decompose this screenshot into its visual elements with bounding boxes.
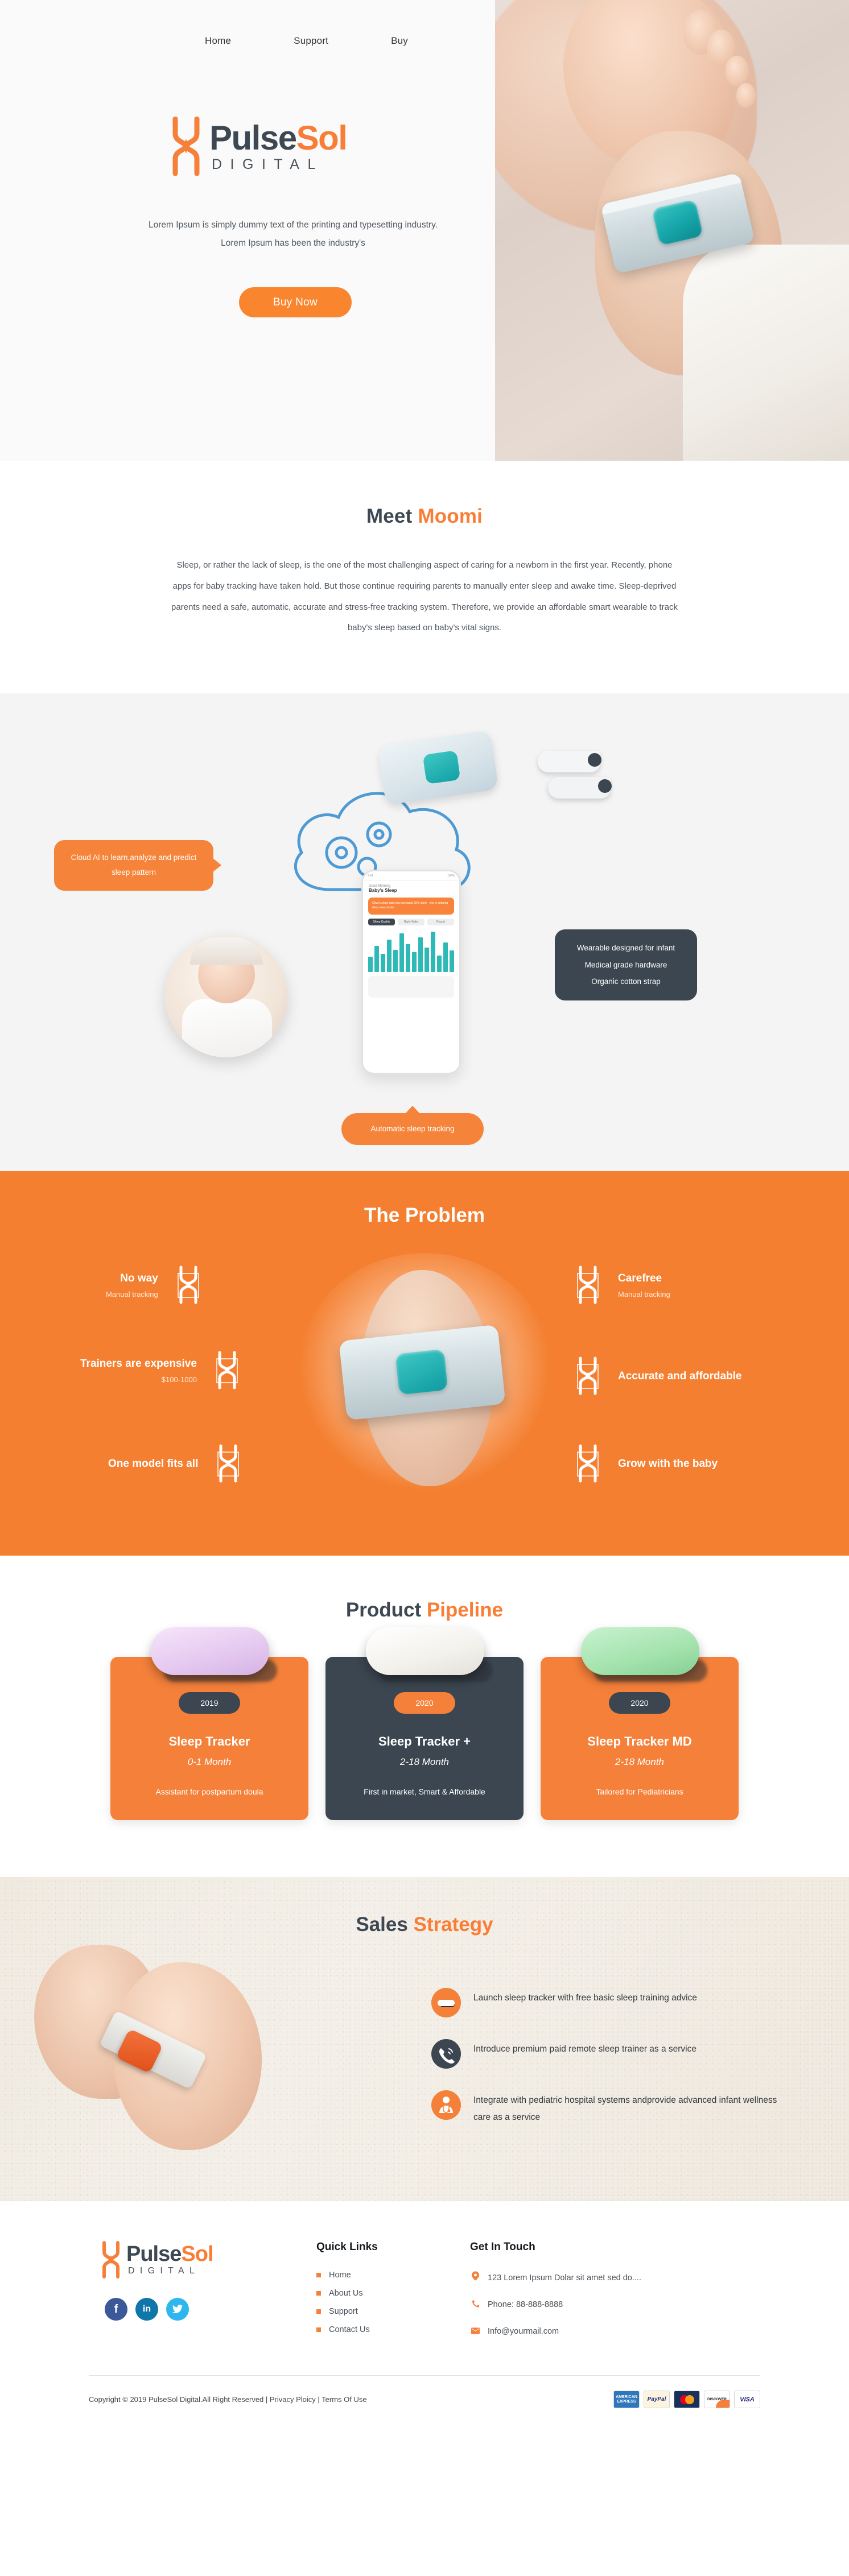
pipeline-card-note: Tailored for Pediatricians bbox=[555, 1787, 724, 1796]
envelope-icon bbox=[470, 2324, 480, 2340]
footer: PulseSol DIGITAL f in Quick Links bbox=[0, 2201, 849, 2428]
bullet-square-icon bbox=[316, 2291, 321, 2296]
device-spec-line-1: Wearable designed for infant bbox=[570, 940, 682, 957]
product-image-1 bbox=[144, 1624, 275, 1688]
product-image-3 bbox=[574, 1624, 705, 1688]
footer-contact-column: Get In Touch 123 Lorem Ipsum Dolar sit a… bbox=[470, 2241, 709, 2350]
wearable-band-illustration bbox=[376, 727, 506, 813]
quick-link-contact-us[interactable]: Contact Us bbox=[316, 2325, 470, 2334]
american-express-icon: AMERICAN EXPRESS bbox=[613, 2391, 640, 2408]
pipeline-card-note: Assistant for postpartum doula bbox=[125, 1787, 294, 1796]
pipeline-year-badge: 2020 bbox=[609, 1692, 670, 1714]
bone-icon bbox=[572, 1444, 603, 1484]
pipeline-card-2[interactable]: 2020 Sleep Tracker + 2-18 Month First in… bbox=[325, 1657, 524, 1820]
pipeline-year-badge: 2019 bbox=[179, 1692, 240, 1714]
pipeline-card-1[interactable]: 2019 Sleep Tracker 0-1 Month Assistant f… bbox=[110, 1657, 308, 1820]
location-pin-icon bbox=[470, 2271, 480, 2286]
nav-item-support[interactable]: Support bbox=[294, 35, 328, 47]
problem-item-title: One model fits all bbox=[108, 1458, 198, 1470]
logo-part-pulse: Pulse bbox=[209, 119, 296, 157]
contact-phone-text: Phone: 88-888-8888 bbox=[488, 2297, 563, 2313]
sales-title: Sales Strategy bbox=[0, 1877, 849, 1936]
pipeline-card-3[interactable]: 2020 Sleep Tracker MD 2-18 Month Tailore… bbox=[541, 1657, 739, 1820]
footer-bottom-bar: Copyright © 2019 PulseSol Digital.All Ri… bbox=[89, 2375, 760, 2428]
bone-icon bbox=[572, 1357, 603, 1396]
meet-title-orange: Moomi bbox=[418, 505, 483, 527]
automatic-tracking-callout: Automatic sleep tracking bbox=[341, 1113, 484, 1145]
problem-item-title: No way bbox=[106, 1272, 158, 1285]
phone-call-icon bbox=[431, 2039, 461, 2069]
footer-logo-subtitle: DIGITAL bbox=[126, 2266, 213, 2276]
problem-item-title: Grow with the baby bbox=[618, 1458, 718, 1470]
pipeline-card-name: Sleep Tracker MD bbox=[555, 1734, 724, 1749]
social-links: f in bbox=[101, 2298, 316, 2321]
problem-item-left-3: One model fits all bbox=[108, 1444, 244, 1484]
problem-item-sub: Manual tracking bbox=[618, 1290, 670, 1299]
device-specs-callout: Wearable designed for infant Medical gra… bbox=[555, 929, 697, 1000]
sales-strategy-list: Launch sleep tracker with free basic sle… bbox=[431, 1988, 784, 2148]
landing-page: Home Support Buy PulseSol DIGITAL bbox=[0, 0, 849, 2428]
hero-tracker-device bbox=[652, 199, 703, 246]
hero-section: Home Support Buy PulseSol DIGITAL bbox=[0, 0, 849, 461]
quick-link-home[interactable]: Home bbox=[316, 2271, 470, 2280]
sales-item-text: Integrate with pediatric hospital system… bbox=[473, 2090, 784, 2126]
quick-link-label: Support bbox=[329, 2307, 358, 2316]
sales-item-text: Introduce premium paid remote sleep trai… bbox=[473, 2039, 696, 2058]
callout-arrow-right-icon bbox=[212, 858, 221, 873]
problem-item-left-1: No way Manual tracking bbox=[106, 1266, 204, 1305]
phone-status-time: 9:41 bbox=[368, 874, 373, 878]
logo-part-sol: Sol bbox=[296, 119, 347, 157]
problem-item-right-2: Accurate and affordable bbox=[572, 1357, 742, 1396]
sales-title-dark: Sales bbox=[356, 1913, 413, 1936]
sales-item-text: Launch sleep tracker with free basic sle… bbox=[473, 1988, 697, 2007]
hero-logo[interactable]: PulseSol DIGITAL bbox=[171, 117, 415, 176]
problem-title: The Problem bbox=[0, 1204, 849, 1227]
bone-icon bbox=[213, 1444, 244, 1484]
phone-tab-night-wake[interactable]: Night Wake bbox=[398, 919, 424, 925]
pipeline-card-name: Sleep Tracker + bbox=[340, 1734, 509, 1749]
sales-item-2: Introduce premium paid remote sleep trai… bbox=[431, 2039, 784, 2069]
phone-icon bbox=[470, 2297, 480, 2313]
phone-mockup: 9:41 100% Good Morning Baby's Sleep Oliv… bbox=[361, 870, 461, 1074]
quick-link-label: Home bbox=[329, 2271, 351, 2280]
main-nav: Home Support Buy bbox=[205, 35, 408, 47]
get-in-touch-heading: Get In Touch bbox=[470, 2241, 709, 2254]
pipeline-title-dark: Product bbox=[346, 1599, 427, 1621]
sales-item-3: Integrate with pediatric hospital system… bbox=[431, 2090, 784, 2126]
cloud-ai-callout-text: Cloud AI to learn,analyze and predict sl… bbox=[71, 853, 197, 876]
facebook-icon[interactable]: f bbox=[105, 2298, 127, 2321]
bone-icon bbox=[572, 1266, 603, 1305]
meet-section: Meet Moomi Sleep, or rather the lack of … bbox=[0, 461, 849, 693]
phone-title: Baby's Sleep bbox=[369, 888, 454, 893]
buy-now-button[interactable]: Buy Now bbox=[239, 287, 352, 317]
quick-links-heading: Quick Links bbox=[316, 2241, 470, 2254]
contact-address: 123 Lorem Ipsum Dolar sit amet sed do...… bbox=[470, 2271, 709, 2286]
pipeline-card-name: Sleep Tracker bbox=[125, 1734, 294, 1749]
footer-logo[interactable]: PulseSol DIGITAL bbox=[101, 2241, 316, 2279]
discover-icon: DISCOVER bbox=[704, 2391, 730, 2408]
problem-center-photo bbox=[294, 1253, 555, 1503]
problem-item-right-3: Grow with the baby bbox=[572, 1444, 718, 1484]
problem-section: The Problem No way Manual tracking bbox=[0, 1171, 849, 1556]
paypal-icon: PayPal bbox=[644, 2391, 670, 2408]
pulsesol-bone-icon bbox=[101, 2241, 121, 2279]
quick-link-support[interactable]: Support bbox=[316, 2307, 470, 2316]
visa-icon: VISA bbox=[734, 2391, 760, 2408]
bullet-square-icon bbox=[316, 2273, 321, 2277]
phone-footer-panel bbox=[368, 976, 454, 998]
nav-item-home[interactable]: Home bbox=[205, 35, 231, 47]
copyright-text: Copyright © 2019 PulseSol Digital.All Ri… bbox=[89, 2395, 367, 2404]
automatic-tracking-callout-text: Automatic sleep tracking bbox=[370, 1124, 454, 1133]
baby-shoes-illustration bbox=[538, 747, 623, 816]
pipeline-card-months: 2-18 Month bbox=[340, 1756, 509, 1768]
pipeline-title-orange: Pipeline bbox=[427, 1599, 503, 1621]
sales-baby-foot-photo bbox=[34, 1945, 273, 2161]
problem-item-sub: $100-1000 bbox=[80, 1375, 197, 1384]
problem-item-title: Accurate and affordable bbox=[618, 1370, 742, 1383]
callout-arrow-up-icon bbox=[405, 1106, 420, 1114]
footer-logo-part-pulse: Pulse bbox=[126, 2242, 181, 2266]
pipeline-title: Product Pipeline bbox=[0, 1599, 849, 1622]
pulsesol-bone-icon bbox=[171, 117, 201, 176]
phone-tabs: Sleep Quality Night Wake Report bbox=[368, 919, 454, 925]
hero-baby-photo bbox=[495, 0, 849, 461]
phone-tab-sleep-quality[interactable]: Sleep Quality bbox=[368, 919, 395, 925]
system-diagram-section: Cloud AI to learn,analyze and predict sl… bbox=[0, 693, 849, 1171]
problem-item-sub: Manual tracking bbox=[106, 1290, 158, 1299]
bone-icon bbox=[173, 1266, 204, 1305]
bone-icon bbox=[212, 1351, 242, 1391]
logo-subtitle: DIGITAL bbox=[209, 158, 347, 172]
footer-quick-links-column: Quick Links Home About Us Support Contac… bbox=[316, 2241, 470, 2350]
phone-sleep-chart bbox=[368, 928, 454, 972]
linkedin-icon[interactable]: in bbox=[135, 2298, 158, 2321]
pipeline-year-badge: 2020 bbox=[394, 1692, 455, 1714]
footer-logo-part-sol: Sol bbox=[181, 2242, 213, 2266]
hero-description: Lorem Ipsum is simply dummy text of the … bbox=[139, 216, 447, 253]
contact-email[interactable]: Info@yourmail.com bbox=[470, 2324, 709, 2340]
meet-paragraph: Sleep, or rather the lack of sleep, is t… bbox=[168, 555, 681, 639]
twitter-icon[interactable] bbox=[166, 2298, 189, 2321]
problem-item-title: Trainers are expensive bbox=[80, 1358, 197, 1370]
problem-item-left-2: Trainers are expensive $100-1000 bbox=[80, 1351, 242, 1391]
problem-item-right-1: Carefree Manual tracking bbox=[572, 1266, 670, 1305]
bullet-square-icon bbox=[316, 2327, 321, 2332]
sales-strategy-section: Sales Strategy Launch sleep tracker with… bbox=[0, 1877, 849, 2201]
baby-photo-circle bbox=[165, 935, 287, 1057]
mastercard-icon bbox=[674, 2391, 700, 2408]
phone-insight-card: Olive's sleep data has increased 25% lat… bbox=[368, 898, 454, 915]
bullet-square-icon bbox=[316, 2309, 321, 2314]
quick-link-about-us[interactable]: About Us bbox=[316, 2289, 470, 2298]
doctor-icon bbox=[431, 2090, 461, 2120]
pipeline-section: Product Pipeline 2019 Sleep Tracker 0-1 … bbox=[0, 1556, 849, 1877]
pipeline-card-note: First in market, Smart & Affordable bbox=[340, 1787, 509, 1796]
phone-tab-report[interactable]: Report bbox=[427, 919, 454, 925]
cloud-ai-callout: Cloud AI to learn,analyze and predict sl… bbox=[54, 840, 213, 891]
problem-grid: No way Manual tracking Trainers are expe… bbox=[49, 1262, 800, 1501]
problem-item-title: Carefree bbox=[618, 1272, 670, 1285]
device-spec-line-3: Organic cotton strap bbox=[570, 973, 682, 990]
nav-item-buy[interactable]: Buy bbox=[391, 35, 408, 47]
product-image-2 bbox=[359, 1624, 490, 1688]
contact-email-text: Info@yourmail.com bbox=[488, 2324, 559, 2340]
quick-link-label: About Us bbox=[329, 2289, 363, 2298]
device-spec-line-2: Medical grade hardware bbox=[570, 957, 682, 974]
contact-address-text: 123 Lorem Ipsum Dolar sit amet sed do...… bbox=[488, 2271, 641, 2286]
meet-title: Meet Moomi bbox=[0, 505, 849, 528]
sales-title-orange: Strategy bbox=[414, 1913, 493, 1936]
pipeline-card-months: 2-18 Month bbox=[555, 1756, 724, 1768]
phone-status-battery: 100% bbox=[447, 874, 455, 878]
tracker-device-icon bbox=[431, 1988, 461, 2017]
quick-link-label: Contact Us bbox=[329, 2325, 370, 2334]
payment-methods: AMERICAN EXPRESS PayPal DISCOVER VISA bbox=[613, 2391, 760, 2408]
pipeline-card-months: 0-1 Month bbox=[125, 1756, 294, 1768]
pipeline-cards: 2019 Sleep Tracker 0-1 Month Assistant f… bbox=[0, 1657, 849, 1820]
footer-brand-column: PulseSol DIGITAL f in bbox=[89, 2241, 316, 2350]
meet-title-dark: Meet bbox=[366, 505, 418, 527]
contact-phone[interactable]: Phone: 88-888-8888 bbox=[470, 2297, 709, 2313]
sales-item-1: Launch sleep tracker with free basic sle… bbox=[431, 1988, 784, 2017]
